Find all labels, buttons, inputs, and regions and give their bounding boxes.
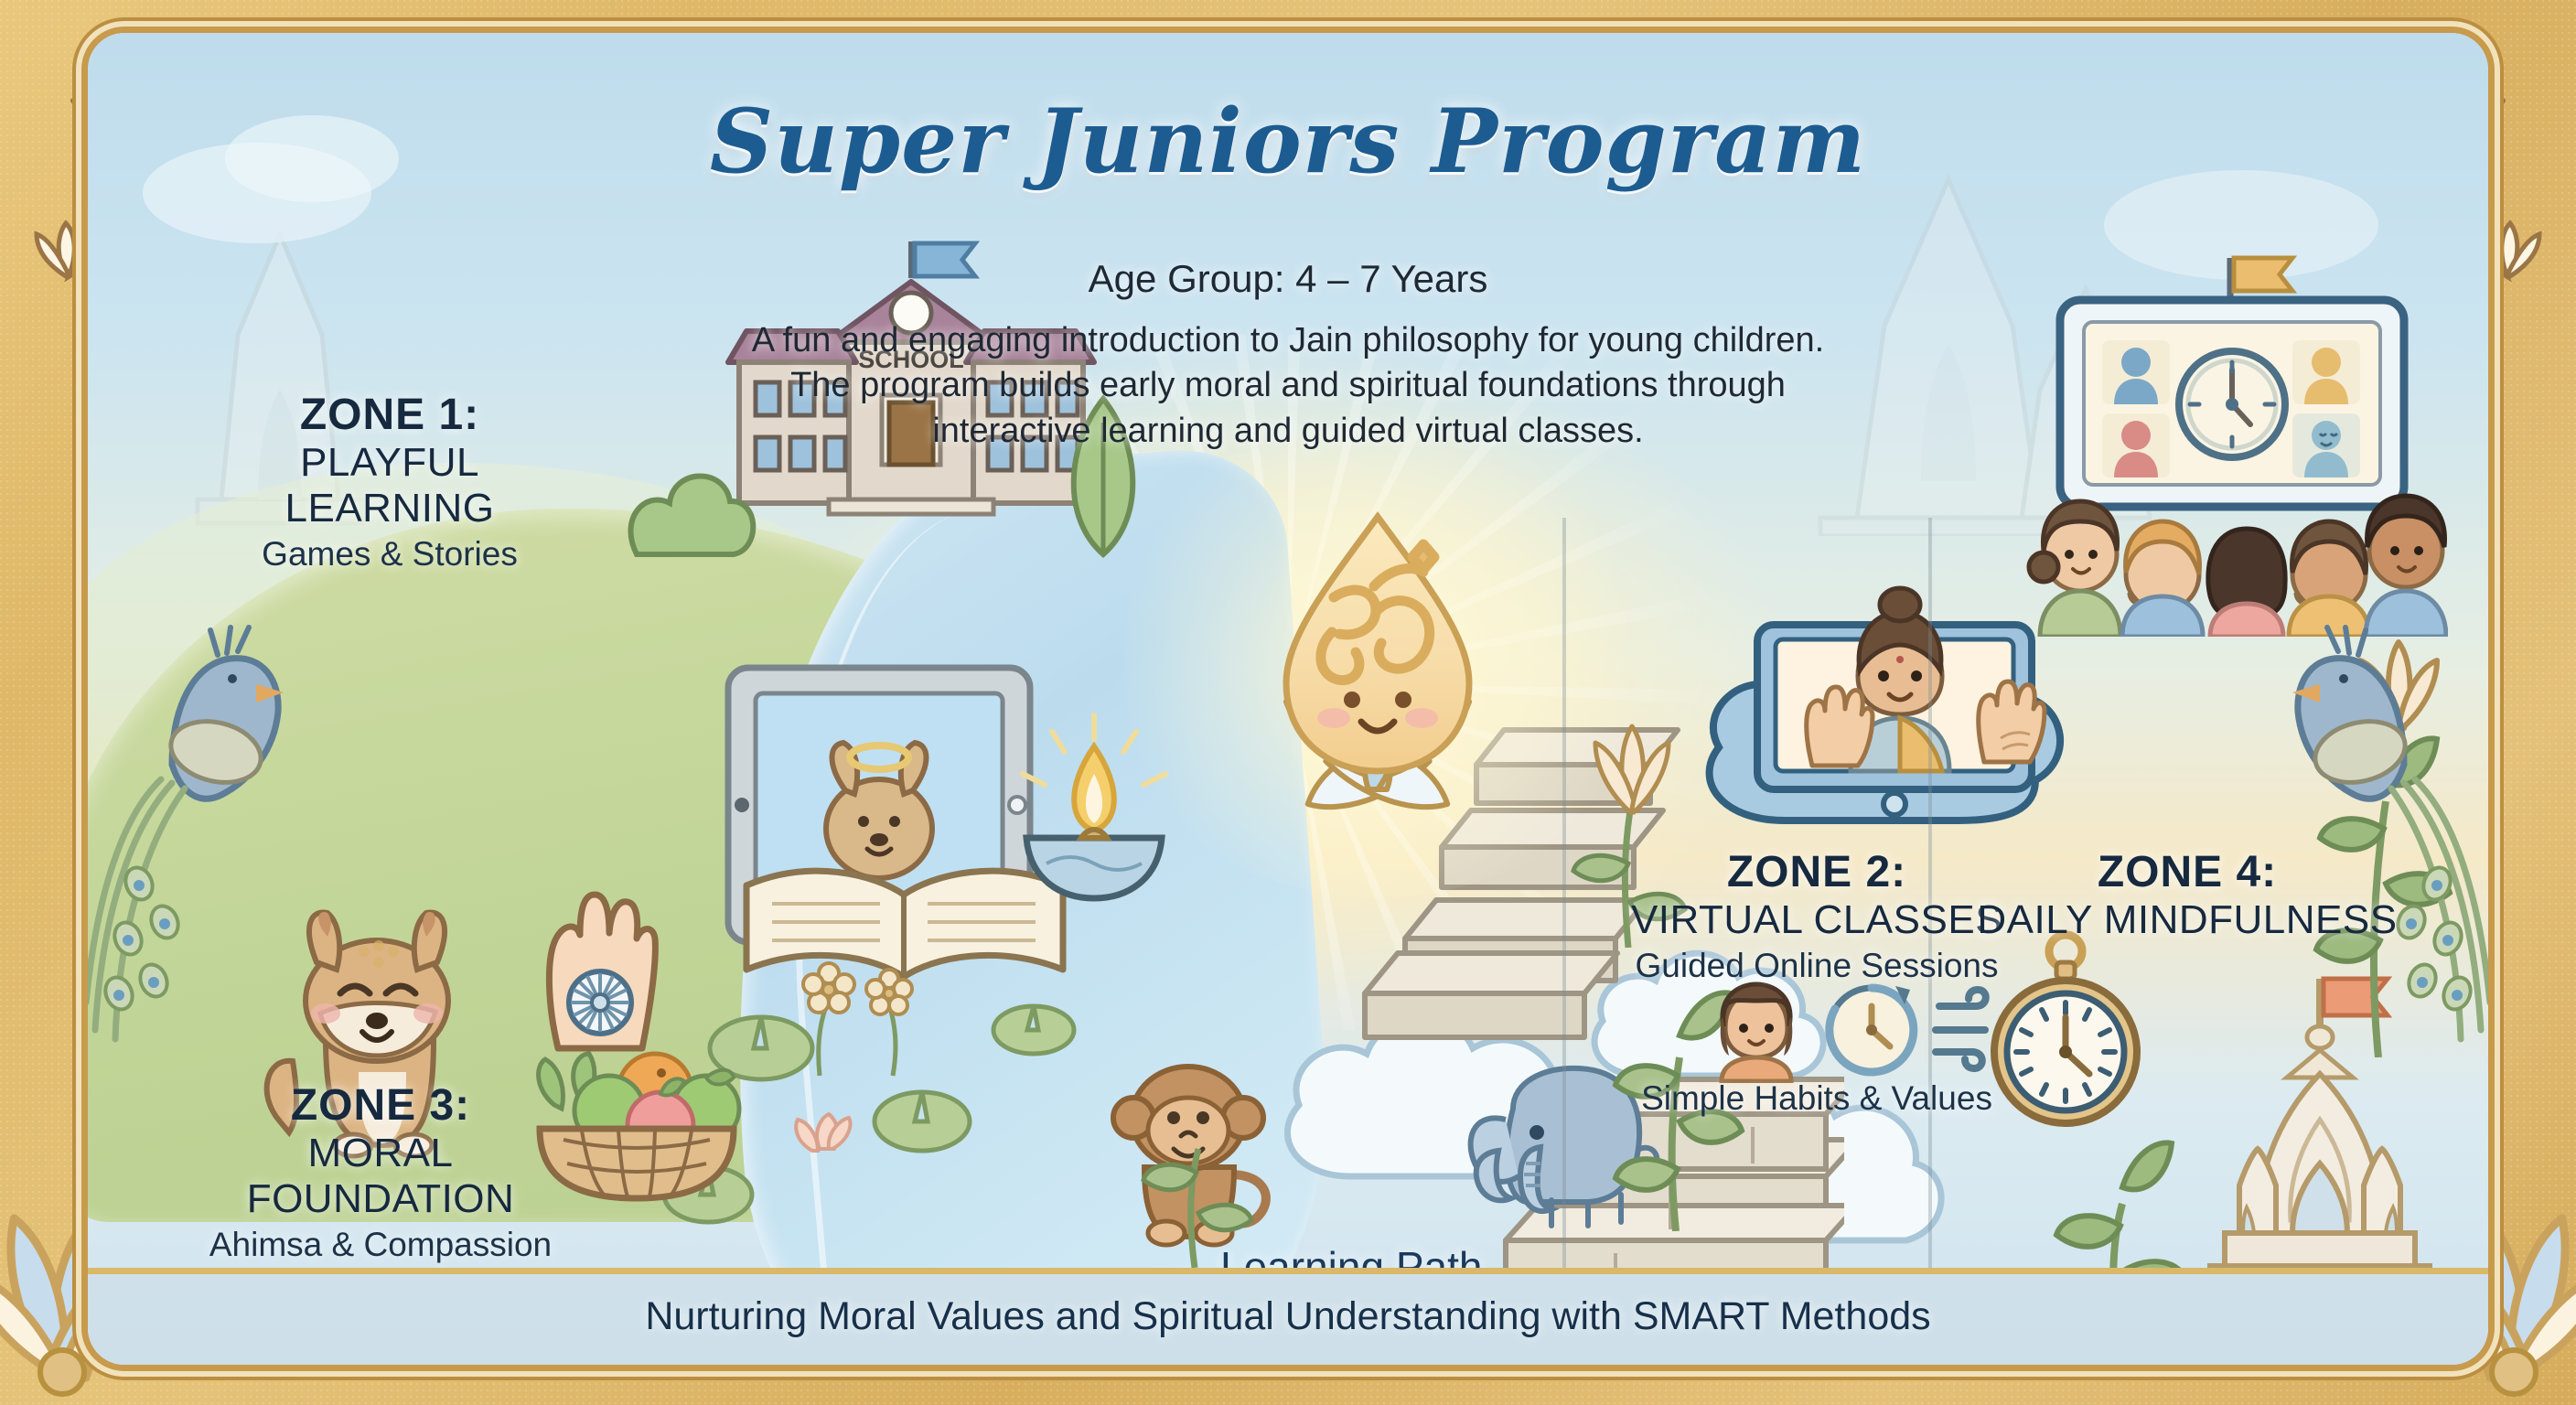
scene-stage: SCHOOL	[88, 33, 2488, 1365]
peacock-icon	[2223, 582, 2488, 1057]
zone-3-number: ZONE 3:	[175, 1080, 586, 1131]
peacock-icon	[88, 582, 353, 1057]
zone-4-name: DAILY MINDFULNESS	[1972, 897, 2402, 943]
zone-1-subtitle: Games & Stories	[198, 535, 582, 574]
child-avatar-icon	[1721, 984, 1793, 1081]
zone-2-block: ZONE 2: VIRTUAL CLASSES Guided Online Se…	[1606, 847, 2027, 985]
zone-2-number: ZONE 2:	[1606, 847, 2027, 897]
zone-4-number: ZONE 4:	[1972, 847, 2402, 897]
page-title: Super Juniors Program	[88, 90, 2488, 193]
intro-line-1: A fun and engaging introduction to Jain …	[602, 318, 1974, 363]
om-lotus-emblem	[1195, 486, 1561, 852]
footer-tagline: Nurturing Moral Values and Spiritual Und…	[88, 1294, 2488, 1339]
zone-3-subtitle: Ahimsa & Compassion	[175, 1226, 586, 1264]
habit-icons-row	[1700, 973, 2002, 1083]
bush-icon	[618, 435, 765, 563]
zone-2-subtitle-2: Simple Habits & Values	[1606, 1079, 2027, 1118]
zone-divider	[1562, 518, 1566, 1314]
intro-paragraph: A fun and engaging introduction to Jain …	[602, 318, 1974, 454]
flower-icon	[765, 929, 966, 1085]
zone-1-number: ZONE 1:	[198, 390, 582, 440]
zone-2-subtitle: Guided Online Sessions	[1606, 947, 2027, 985]
intro-line-3: interactive learning and guided virtual …	[602, 409, 1974, 454]
zone-4-block: ZONE 4: DAILY MINDFULNESS	[1972, 847, 2402, 943]
zone-2-habits-label: Simple Habits & Values	[1606, 1076, 2027, 1118]
zone-1-block: ZONE 1: PLAYFUL LEARNING Games & Stories	[198, 390, 582, 574]
routine-clock-icon	[1830, 986, 1914, 1072]
zone-3-name: MORAL FOUNDATION	[175, 1131, 586, 1222]
online-classroom-board-icon	[2018, 252, 2448, 637]
poster-canvas: SCHOOL	[0, 0, 2576, 1405]
zone-3-block: ZONE 3: MORAL FOUNDATION Ahimsa & Compas…	[175, 1080, 586, 1264]
plant-icon	[1122, 993, 1268, 1268]
zone-2-name: VIRTUAL CLASSES	[1606, 897, 2027, 943]
zone-1-name: PLAYFUL LEARNING	[198, 440, 582, 531]
intro-line-2: The program builds early moral and spiri…	[602, 363, 1974, 408]
age-group-label: Age Group: 4 – 7 Years	[88, 257, 2488, 301]
